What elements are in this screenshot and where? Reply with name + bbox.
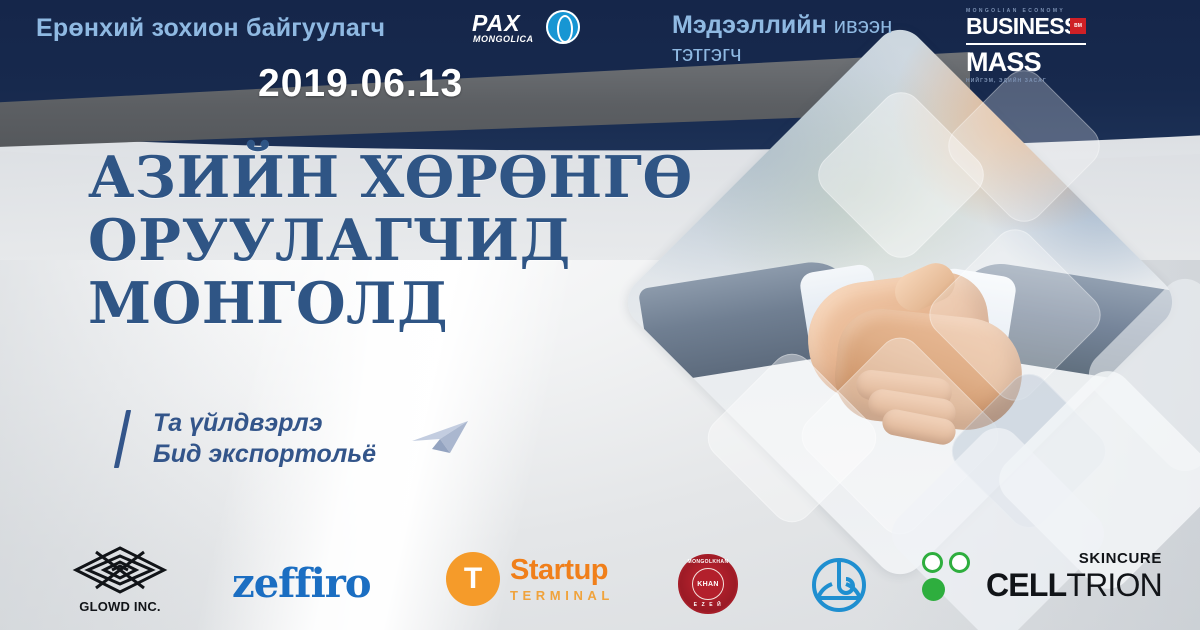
business-mass-logo: MONGOLIAN ECONOMY BUSINESS BM MASS НИЙГЭ… [966, 8, 1086, 84]
pax-subtitle: MONGOLICA [473, 34, 534, 44]
event-date: 2019.06.13 [258, 62, 463, 106]
sponsor-glowd[interactable]: GLOWD INC. [70, 544, 170, 614]
blue-trispiral-icon [810, 556, 868, 614]
celltrion-dot-outline-1 [922, 552, 943, 573]
sponsor-mongolkhan[interactable]: MONGOLKHAN KHAN Е Z Е Й [678, 554, 738, 614]
pax-wordmark: PAX [472, 10, 521, 37]
organizer-label: Ерөнхий зохион байгуулагч [36, 14, 385, 43]
mass-wordmark: MASS [966, 49, 1086, 76]
skincure-label: SKINCURE [1079, 551, 1162, 566]
tagline: Та үйлдвэрлэ Бид экспортольё [120, 408, 472, 470]
pax-circle-icon [546, 10, 580, 44]
sponsor-startup-terminal[interactable]: T Startup TERMINAL [446, 552, 614, 606]
glowd-knot-icon [70, 544, 170, 596]
mongolkhan-top-label: MONGOLKHAN [680, 559, 736, 565]
celltrion-dot-outline-2 [949, 552, 970, 573]
celltrion-wordmark: SKINCURE CELLTRION [986, 551, 1162, 601]
glowd-label: GLOWD INC. [79, 599, 160, 614]
terminal-label: TERMINAL [510, 589, 614, 602]
sponsor-row: GLOWD INC. zeffiro T Startup TERMINAL MO… [0, 540, 1200, 630]
main-title-line-2: ОРУУЛАГЧИД [88, 209, 693, 272]
pax-mongolica-logo: PAX MONGOLICA [472, 8, 580, 56]
zeffiro-label: zeffiro [232, 560, 371, 607]
paper-plane-icon [410, 419, 472, 459]
celltrion-bold: CELL [986, 567, 1066, 603]
celltrion-dots-icon [922, 550, 978, 602]
main-title-line-1: АЗИЙН ХӨРӨНГӨ [88, 146, 693, 209]
business-mass-subtitle: НИЙГЭМ, ЭДИЙН ЗАСАГ [966, 78, 1086, 84]
celltrion-light: TRION [1066, 567, 1162, 603]
tagline-line-2: Бид экспортольё [153, 439, 376, 470]
sponsor-zeffiro[interactable]: zeffiro [232, 560, 371, 607]
promo-banner: 2019.06.13 Ерөнхий зохион байгуулагч PAX… [0, 0, 1200, 630]
media-sponsor-word3: тэтгэгч [672, 41, 742, 66]
main-title-line-3: МОНГОЛД [88, 272, 693, 335]
startup-t-letter: T [446, 552, 500, 606]
celltrion-label: CELLTRION [986, 569, 1162, 601]
business-mass-divider [966, 43, 1086, 45]
sponsor-blue-circle[interactable] [810, 556, 868, 614]
celltrion-dot-filled [922, 578, 945, 601]
startup-wordmark: Startup TERMINAL [510, 556, 614, 602]
media-sponsor-word1: Мэдээллийн [672, 11, 827, 39]
sponsor-celltrion[interactable]: SKINCURE CELLTRION [922, 550, 1162, 602]
tagline-text: Та үйлдвэрлэ Бид экспортольё [153, 408, 376, 470]
mongolkhan-seal-icon: MONGOLKHAN KHAN Е Z Е Й [678, 554, 738, 614]
mongolkhan-inner-label: KHAN [692, 568, 724, 600]
media-sponsor-word2: ивээн [834, 13, 893, 38]
main-title: АЗИЙН ХӨРӨНГӨ ОРУУЛАГЧИД МОНГОЛД [88, 146, 693, 335]
mongolkhan-bottom-label: Е Z Е Й [680, 602, 736, 608]
startup-circle-icon: T [446, 552, 500, 606]
business-mass-chip: BM [1070, 18, 1086, 34]
startup-label: Startup [510, 556, 614, 585]
pax-circle-inner-icon [557, 15, 573, 43]
business-mass-row: BUSINESS BM [966, 15, 1086, 40]
business-wordmark: BUSINESS [966, 15, 1086, 38]
media-sponsor-label: Мэдээллийн ивээн тэтгэгч [672, 12, 962, 67]
tagline-line-1: Та үйлдвэрлэ [153, 408, 376, 439]
